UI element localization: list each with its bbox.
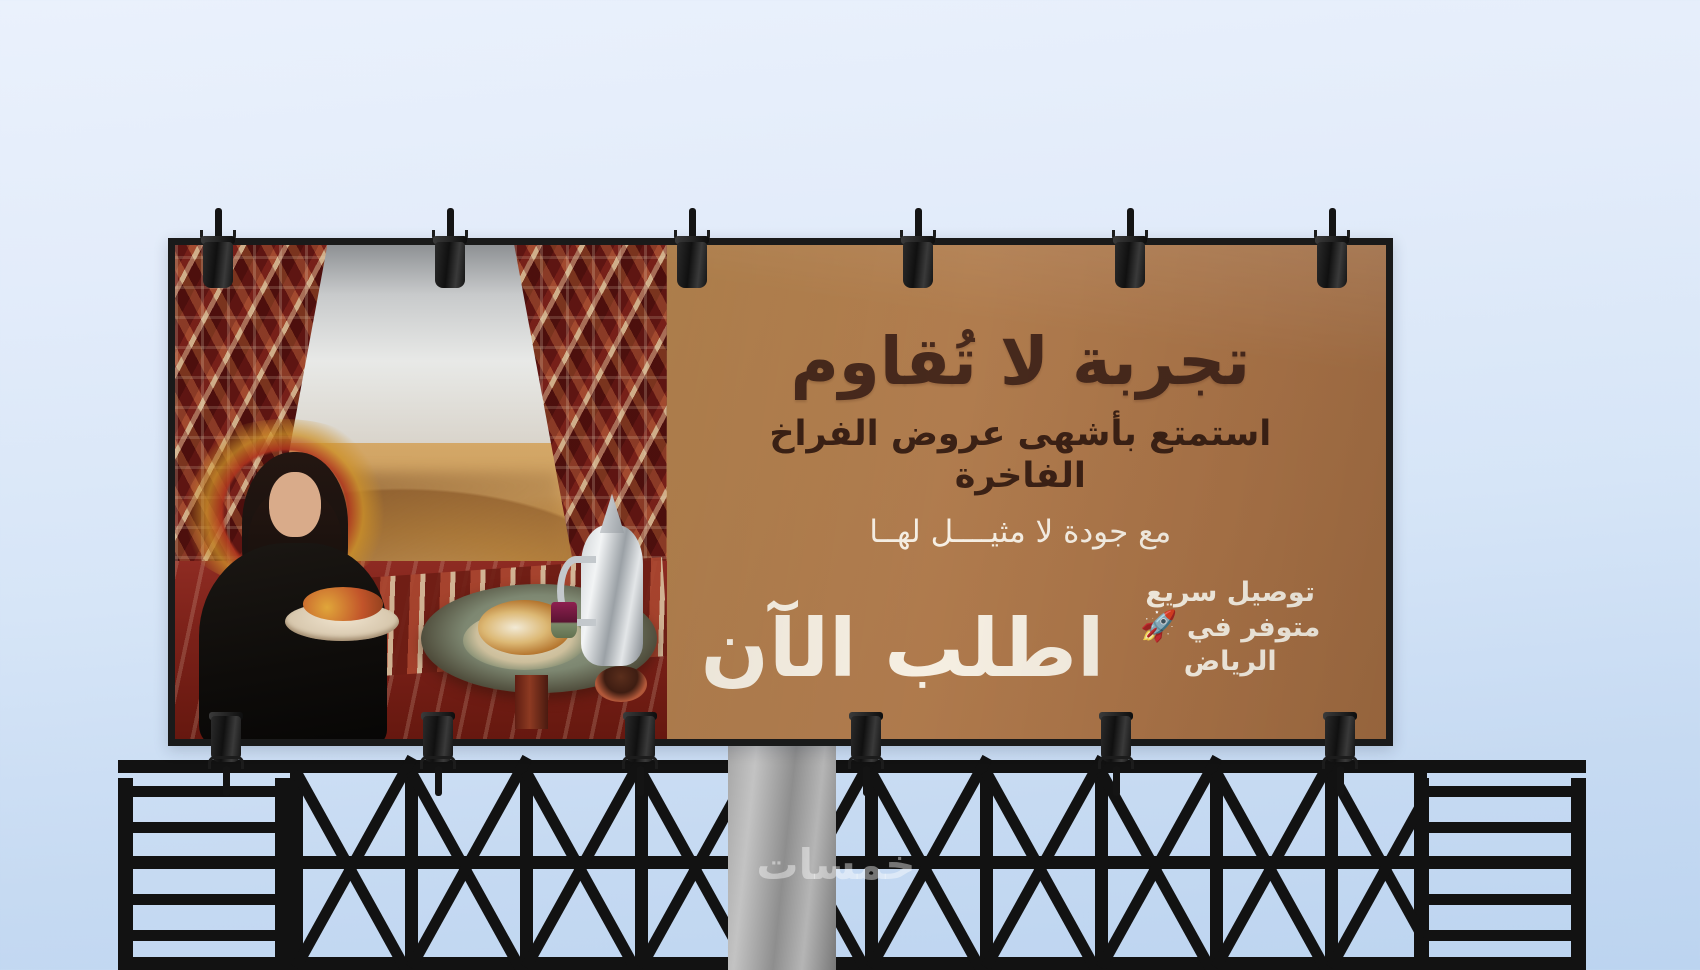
seated-woman	[195, 413, 392, 739]
billboard-photo	[175, 245, 667, 739]
delivery-note: توصيل سريع متوفر في 🚀 الرياض	[1120, 577, 1340, 689]
lamp-stem	[435, 766, 442, 796]
truss-brace	[1326, 799, 1428, 970]
ladder-rung	[1420, 786, 1580, 797]
delivery-line-2: الرياض	[1120, 646, 1340, 679]
rocket-icon: 🚀	[1140, 609, 1177, 646]
dates-bowl	[595, 666, 647, 702]
lamp-stem	[863, 766, 870, 796]
lamp-housing	[1115, 242, 1145, 288]
face	[269, 472, 320, 537]
ad-tagline: مع جودة لا مثيــــل لهــا	[701, 513, 1340, 552]
lamp-housing	[435, 242, 465, 288]
ladder-rung	[124, 930, 284, 941]
ladder-rung	[1420, 858, 1580, 869]
lamp-housing	[1317, 242, 1347, 288]
ladder-rail	[118, 778, 133, 970]
abaya-dress	[199, 543, 388, 739]
lamp-stem	[1337, 766, 1344, 796]
food-table-scene	[421, 502, 657, 729]
order-now-cta[interactable]: اطلب الآن	[701, 609, 1105, 689]
lamp-housing	[903, 242, 933, 288]
ladder-rung	[1420, 930, 1580, 941]
lamp-housing	[203, 242, 233, 288]
billboard-panel[interactable]: تجربة لا تُقاوم استمتع بأشهى عروض الفراخ…	[168, 238, 1393, 746]
billboard-scene: خمسات	[0, 0, 1700, 970]
ladder-rung	[124, 894, 284, 905]
ladder-rung	[124, 786, 284, 797]
billboard-ad-copy: تجربة لا تُقاوم استمتع بأشهى عروض الفراخ…	[667, 245, 1386, 739]
ad-headline: تجربة لا تُقاوم	[701, 327, 1340, 397]
ad-subline: استمتع بأشهى عروض الفراخ الفاخرة	[701, 413, 1340, 497]
ladder-rail	[1571, 778, 1586, 970]
lamp-housing	[677, 242, 707, 288]
ladder-rung	[1420, 964, 1580, 970]
dallah-coffee-pot	[581, 525, 642, 666]
truss-ladder-right	[1414, 778, 1586, 970]
ladder-rung	[124, 964, 284, 970]
tea-cup	[551, 602, 577, 638]
serving-plate	[285, 602, 399, 641]
ladder-rail	[275, 778, 290, 970]
lamp-stem	[1113, 766, 1120, 796]
lamp-stem	[637, 766, 644, 796]
ladder-rung	[124, 858, 284, 869]
truss-ladder-left	[118, 778, 290, 970]
ladder-rung	[1420, 894, 1580, 905]
truss-rail-bottom	[118, 957, 1586, 970]
cta-row: توصيل سريع متوفر في 🚀 الرياض اطلب الآن	[701, 577, 1340, 715]
table-leg	[515, 675, 548, 730]
watermark: خمسات	[686, 840, 986, 889]
ladder-rung	[1420, 822, 1580, 833]
lamp-stem	[223, 766, 230, 796]
ladder-rung	[124, 822, 284, 833]
